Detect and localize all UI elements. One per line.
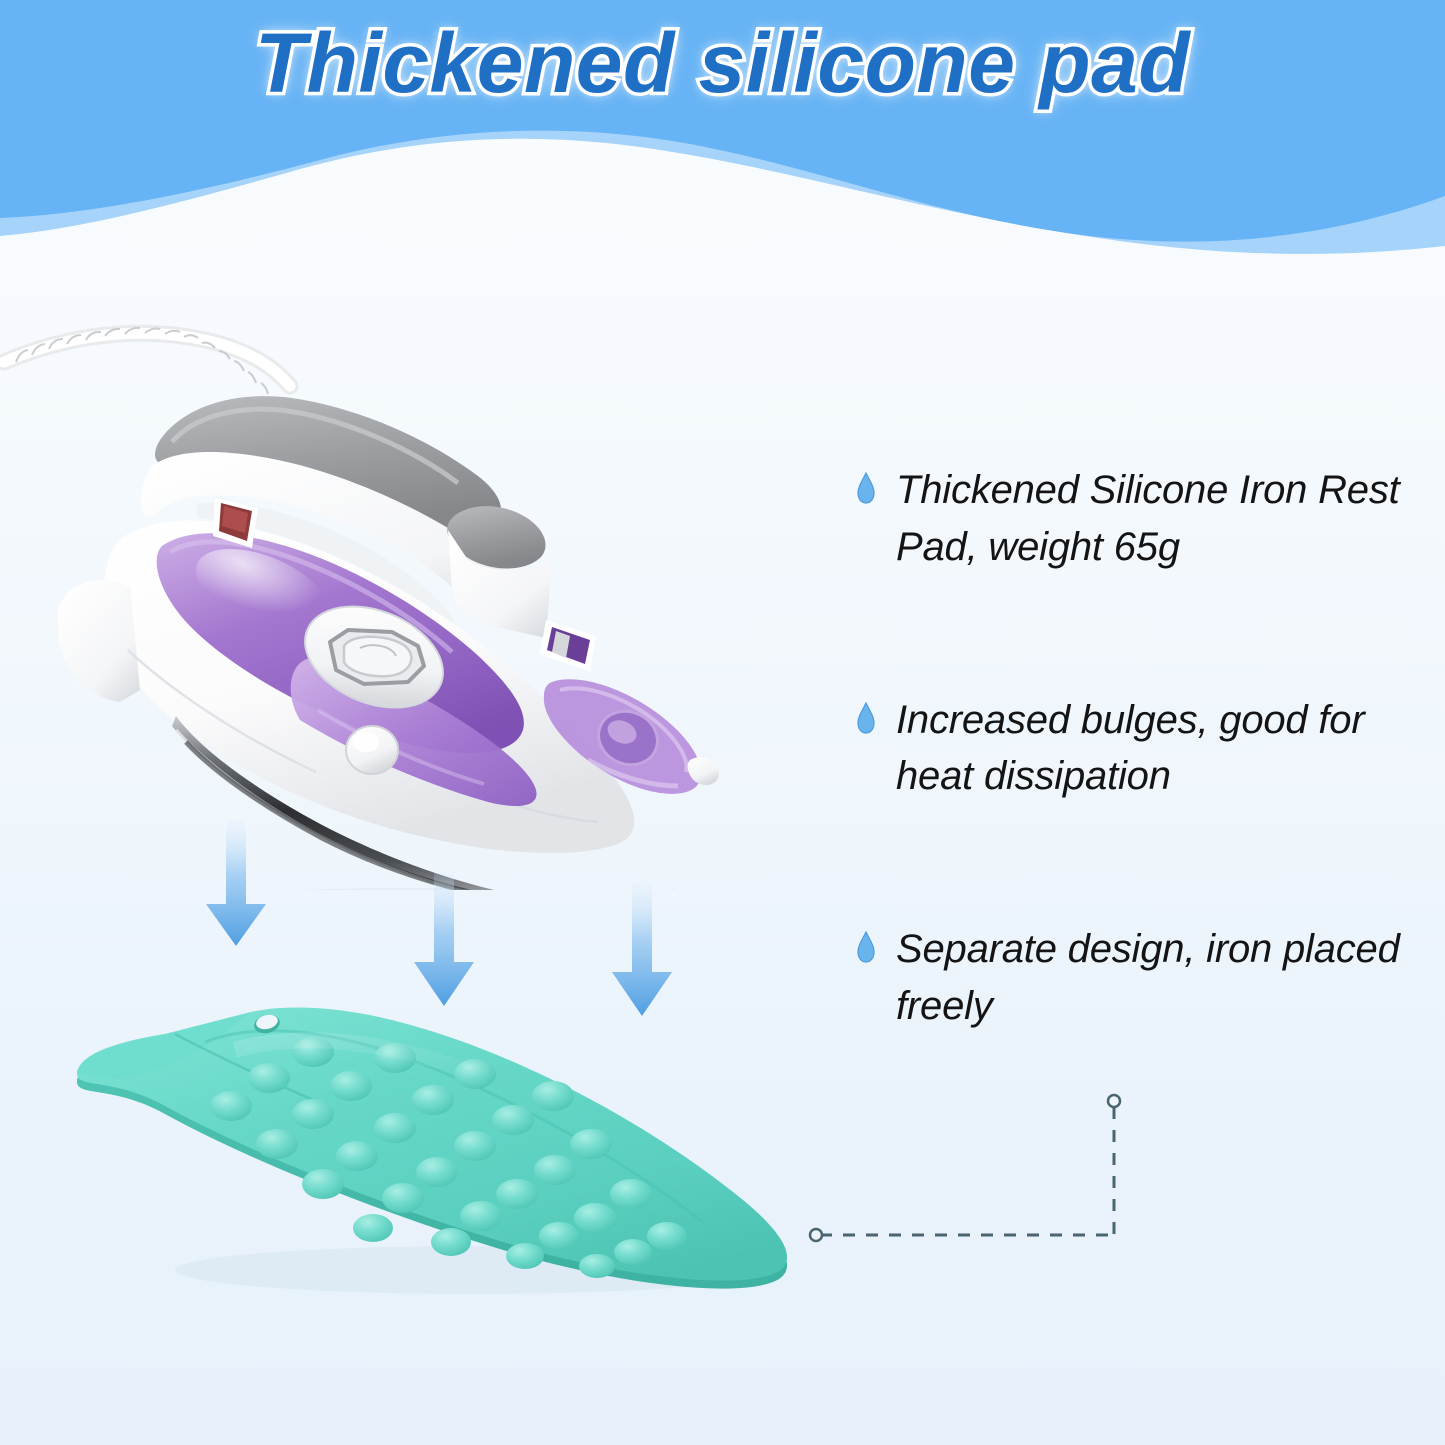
callout-endpoint-top (1108, 1095, 1120, 1107)
feature-text: Thickened Silicone Iron Rest Pad, weight… (896, 462, 1431, 576)
list-item: Thickened Silicone Iron Rest Pad, weight… (856, 462, 1431, 576)
iron-drop-bullet-icon (856, 931, 876, 963)
steam-burst-button[interactable] (447, 506, 552, 638)
coiled-power-cord (4, 328, 290, 394)
list-item: Separate design, iron placed freely (856, 921, 1431, 1035)
arrow-down-1 (206, 820, 266, 946)
header-banner: Thickened silicone pad (0, 0, 1445, 260)
list-item: Increased bulges, good for heat dissipat… (856, 692, 1431, 806)
steam-selector-window (540, 620, 596, 672)
page-title: Thickened silicone pad (0, 14, 1445, 113)
feature-list: Thickened Silicone Iron Rest Pad, weight… (856, 462, 1431, 1035)
silicone-iron-rest-pad-image (55, 950, 865, 1310)
iron-drop-bullet-icon (856, 472, 876, 504)
dimension-callout-line (790, 1085, 1150, 1275)
callout-endpoint-left (810, 1229, 822, 1241)
infographic-canvas: Thickened silicone pad (0, 0, 1445, 1445)
feature-text: Increased bulges, good for heat dissipat… (896, 692, 1431, 806)
iron-drop-bullet-icon (856, 702, 876, 734)
feature-text: Separate design, iron placed freely (896, 921, 1431, 1035)
steam-iron-image (0, 290, 800, 890)
spray-button[interactable] (346, 726, 398, 774)
